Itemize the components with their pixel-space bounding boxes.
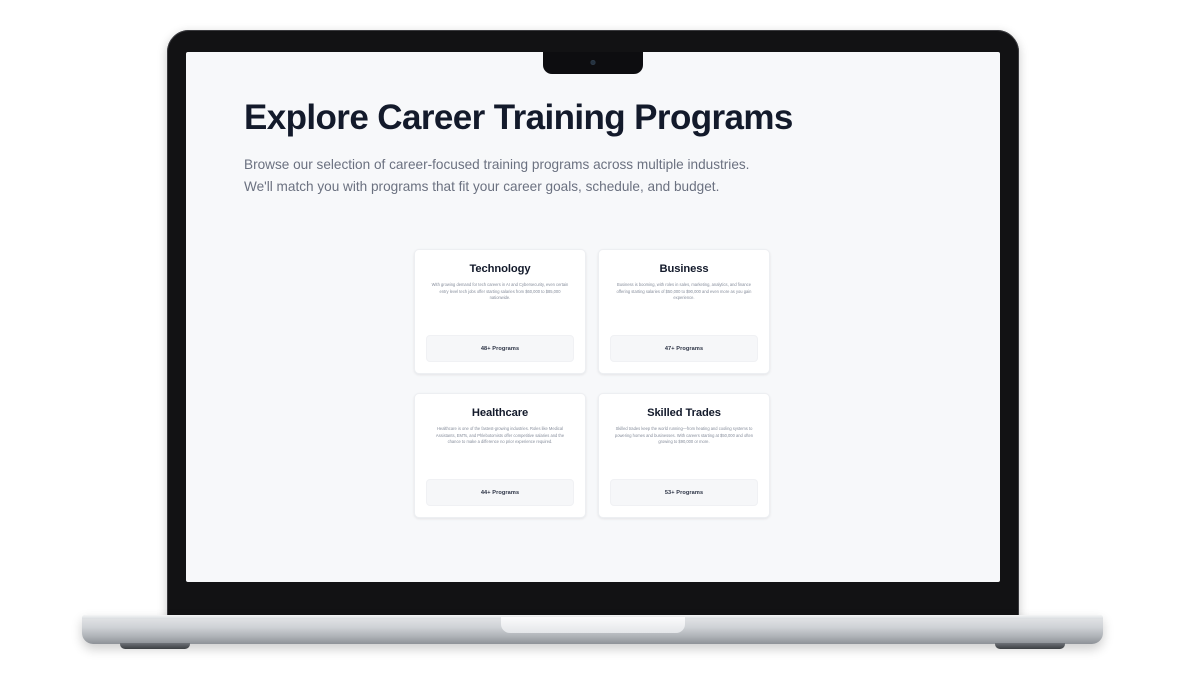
page-title: Explore Career Training Programs	[244, 97, 942, 138]
laptop-lid: Explore Career Training Programs Browse …	[167, 30, 1019, 623]
card-title: Healthcare	[426, 407, 574, 419]
program-card-skilled-trades[interactable]: Skilled Trades Skilled trades keep the w…	[598, 393, 770, 518]
laptop-screen: Explore Career Training Programs Browse …	[186, 52, 1000, 582]
webpage-content: Explore Career Training Programs Browse …	[186, 52, 1000, 582]
card-description: Healthcare is one of the fastest-growing…	[426, 426, 574, 471]
laptop-foot-right	[995, 643, 1065, 649]
camera-icon	[591, 60, 596, 65]
program-card-healthcare[interactable]: Healthcare Healthcare is one of the fast…	[414, 393, 586, 518]
card-program-count-button[interactable]: 48+ Programs	[426, 335, 574, 362]
card-program-count-button[interactable]: 53+ Programs	[610, 479, 758, 506]
card-description: Skilled trades keep the world running—fr…	[610, 426, 758, 471]
card-description: Business is booming, with roles in sales…	[610, 282, 758, 327]
program-category-grid: Technology With growing demand for tech …	[414, 249, 942, 518]
program-card-business[interactable]: Business Business is booming, with roles…	[598, 249, 770, 374]
card-title: Skilled Trades	[610, 407, 758, 419]
card-description: With growing demand for tech careers in …	[426, 282, 574, 327]
laptop-foot-left	[120, 643, 190, 649]
laptop-base-lip	[501, 617, 685, 633]
camera-notch	[543, 52, 643, 74]
screenshot-stage: Explore Career Training Programs Browse …	[0, 0, 1199, 674]
laptop-base	[82, 615, 1103, 644]
page-subtitle: Browse our selection of career-focused t…	[244, 154, 754, 197]
card-title: Technology	[426, 263, 574, 275]
card-program-count-button[interactable]: 47+ Programs	[610, 335, 758, 362]
program-card-technology[interactable]: Technology With growing demand for tech …	[414, 249, 586, 374]
card-title: Business	[610, 263, 758, 275]
card-program-count-button[interactable]: 44+ Programs	[426, 479, 574, 506]
